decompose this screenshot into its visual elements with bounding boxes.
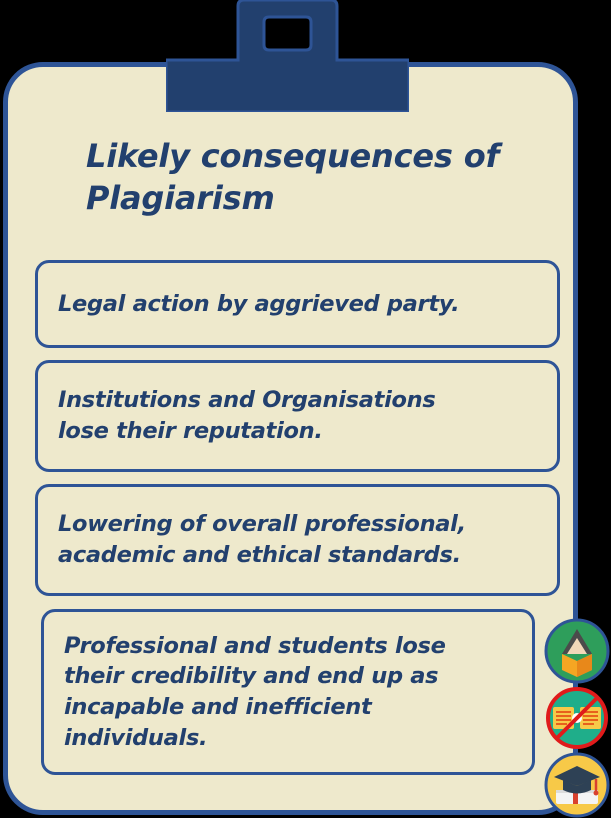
poster-canvas: Likely consequences of Plagiarism Legal … [0, 0, 611, 818]
list-item-text: Legal action by aggrieved party. [38, 289, 475, 320]
no-copy-badge-icon [544, 685, 610, 751]
list-item: Institutions and Organisations lose thei… [35, 360, 560, 472]
clipboard-board: Likely consequences of Plagiarism Legal … [3, 62, 578, 815]
clipboard-clip-icon [166, 0, 409, 112]
list-item-text: Institutions and Organisations lose thei… [38, 385, 452, 446]
list-item-text: Professional and students lose their cre… [44, 631, 462, 753]
graduation-badge-icon [544, 752, 610, 818]
consequences-list: Legal action by aggrieved party. Institu… [8, 67, 573, 810]
list-item: Lowering of overall professional, academ… [35, 484, 560, 596]
list-item: Legal action by aggrieved party. [35, 260, 560, 348]
list-item: Professional and students lose their cre… [41, 609, 535, 775]
pencil-badge-icon [544, 618, 610, 684]
list-item-text: Lowering of overall professional, academ… [38, 509, 482, 570]
sticker-group [544, 618, 611, 818]
